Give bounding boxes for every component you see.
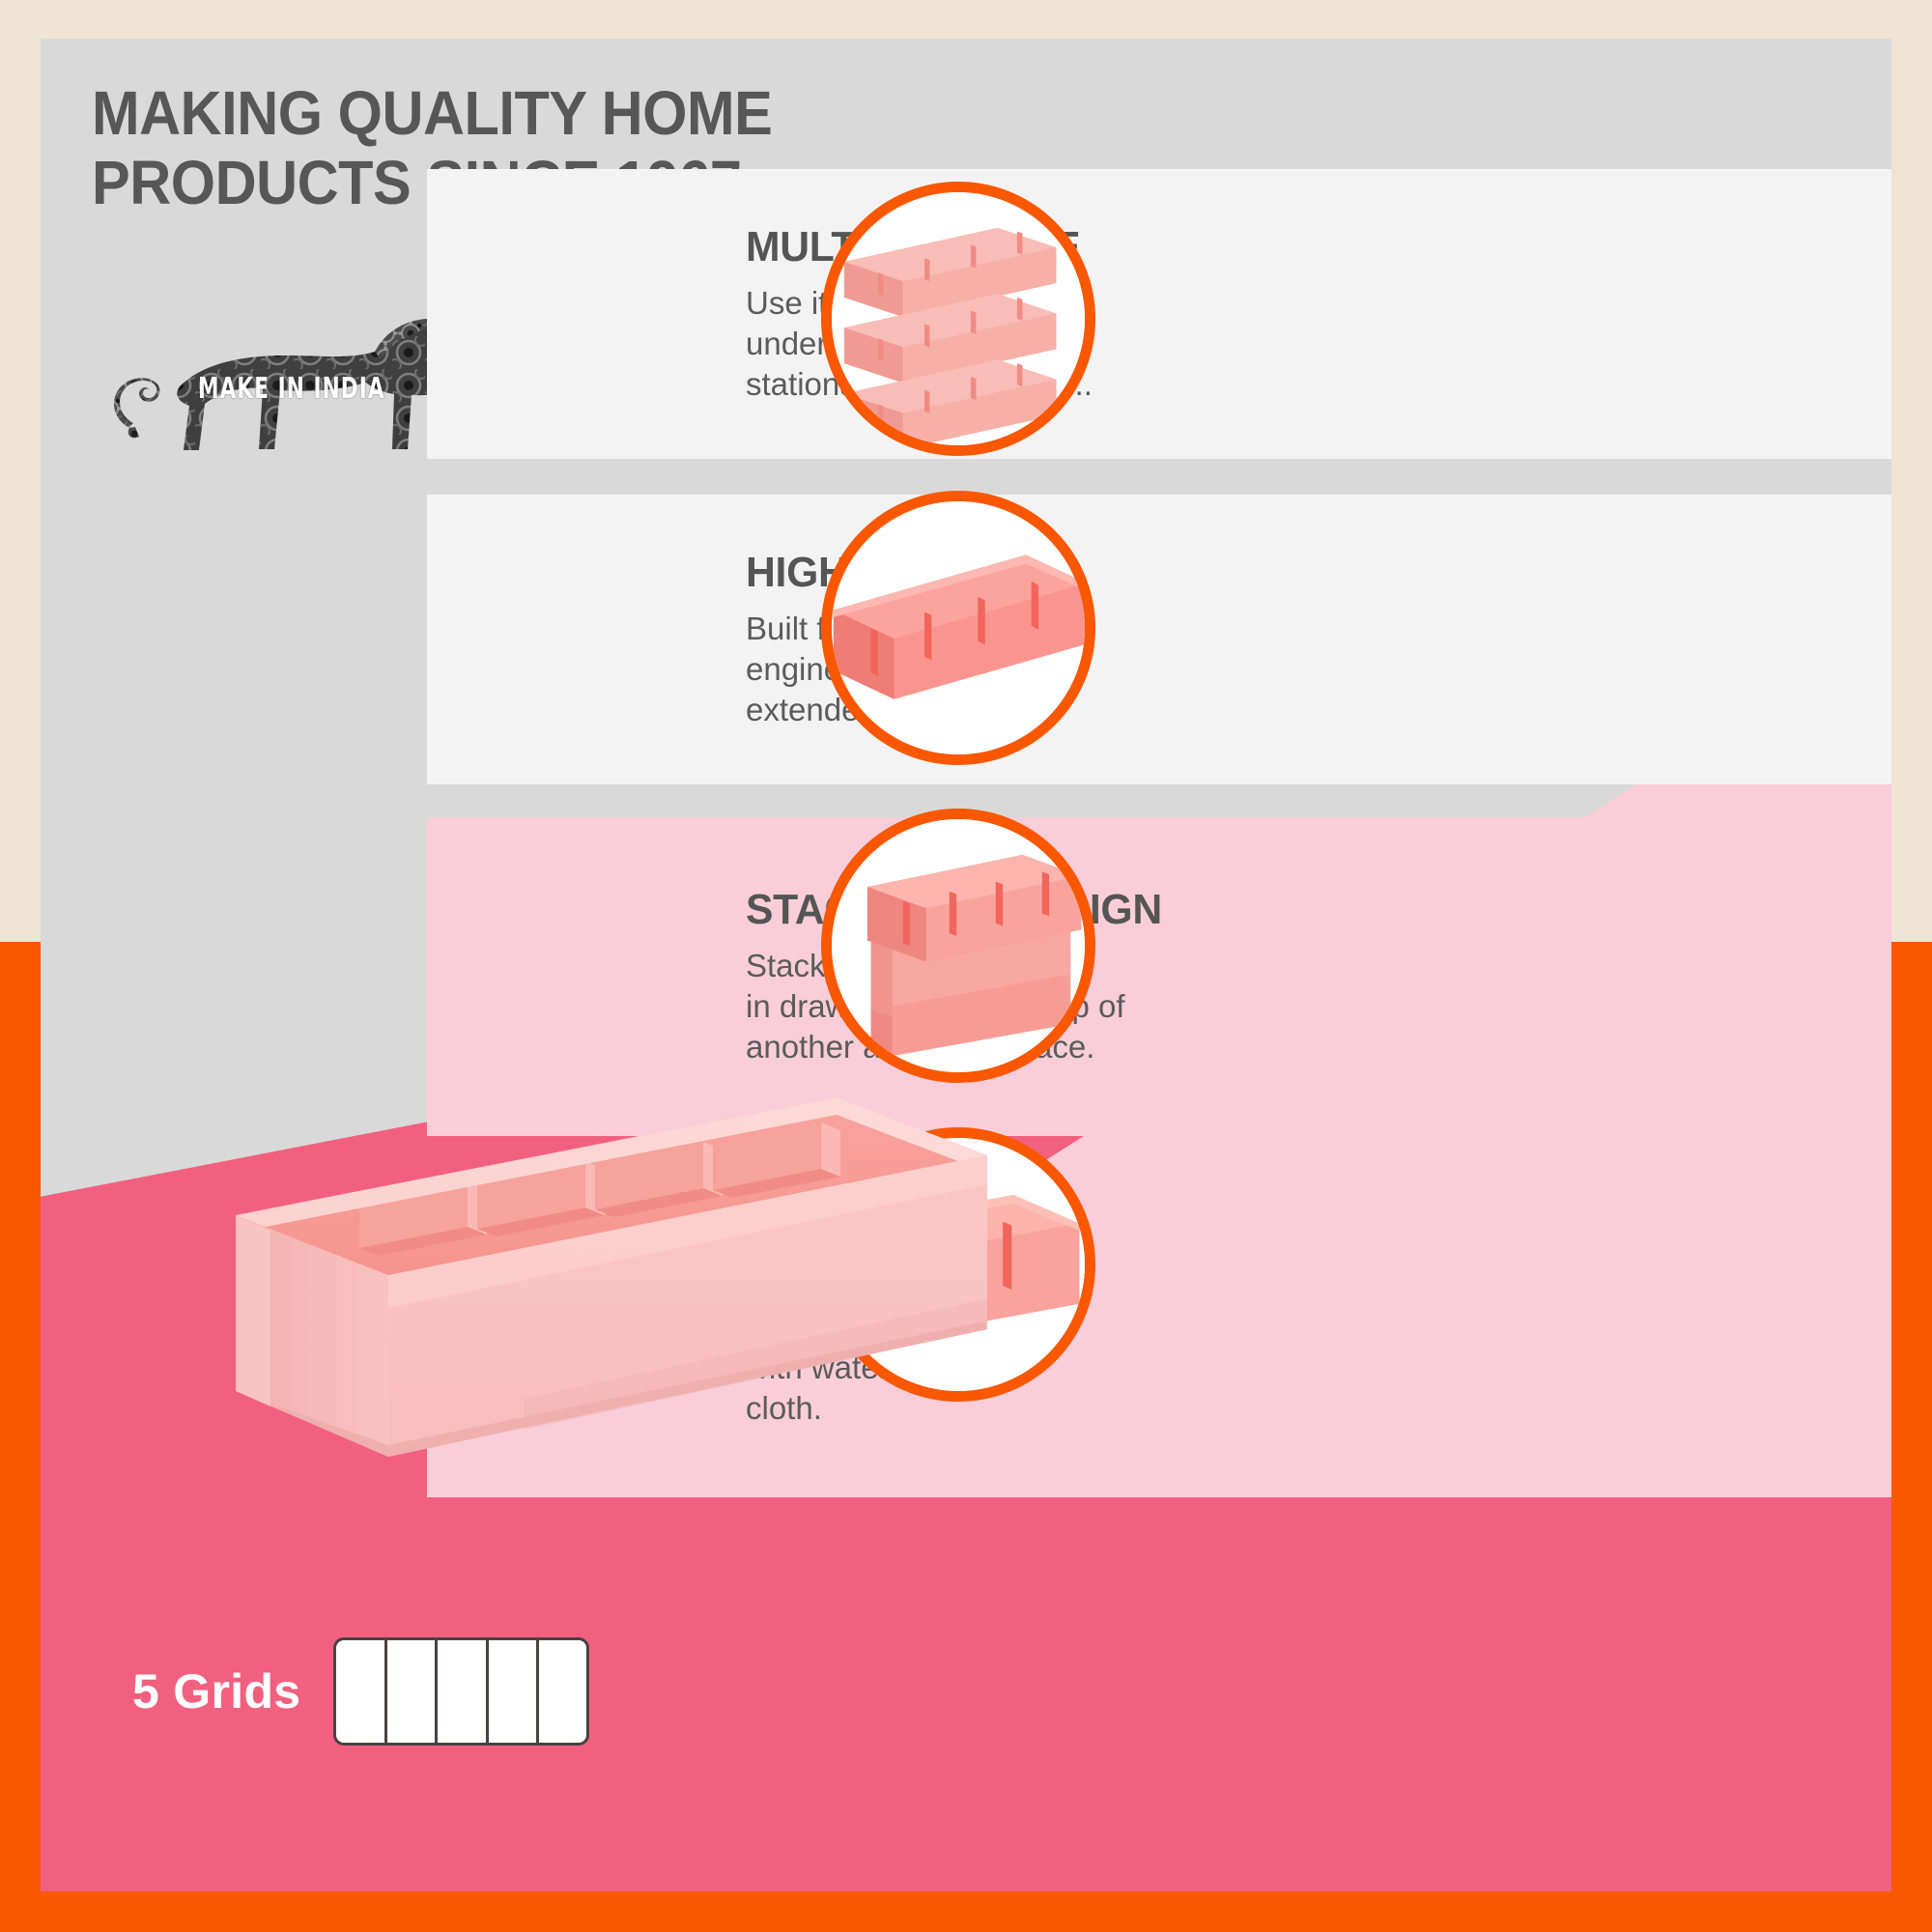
feature-card-multi-purpose: MULTI-PURPOSE Use it to organise socks, … xyxy=(427,169,1891,459)
grid-cell xyxy=(539,1640,586,1743)
grid-cell xyxy=(336,1640,386,1743)
outer-frame-orange-bottom xyxy=(0,1891,1932,1932)
pink-five-grid-drawer-organiser-icon xyxy=(214,1092,1007,1497)
feature-card-stackable-design: STACKABLE DESIGN Stack either side-by-si… xyxy=(427,817,1891,1136)
make-in-india-label: MAKE IN INDIA xyxy=(198,372,385,406)
outer-frame-orange-left xyxy=(0,942,41,1932)
feature-image-stackable-design xyxy=(821,809,1095,1083)
headline-line-1: MAKING QUALITY HOME xyxy=(92,79,829,149)
grid-cell xyxy=(387,1640,438,1743)
three-stacked-organisers-icon xyxy=(832,192,1085,445)
grid-cell xyxy=(438,1640,488,1743)
content-area: MAKING QUALITY HOME PRODUCTS SINCE 1967 xyxy=(41,39,1891,1891)
feature-card-high-quality: HIGH-QUALITY Built from high-quality eng… xyxy=(427,495,1891,784)
grid-cell xyxy=(489,1640,539,1743)
grids-badge: 5 Grids xyxy=(132,1637,589,1746)
hero-product-image xyxy=(214,1092,1007,1497)
grids-diagram-icon xyxy=(333,1637,589,1746)
stacked-trio-organiser-icon xyxy=(832,819,1085,1072)
outer-frame-orange-right xyxy=(1891,942,1932,1932)
grids-label: 5 Grids xyxy=(132,1663,300,1719)
feature-image-high-quality xyxy=(821,491,1095,765)
feature-image-multi-purpose xyxy=(821,182,1095,456)
infographic-canvas: MAKING QUALITY HOME PRODUCTS SINCE 1967 xyxy=(0,0,1932,1932)
single-organiser-angled-icon xyxy=(832,501,1085,754)
